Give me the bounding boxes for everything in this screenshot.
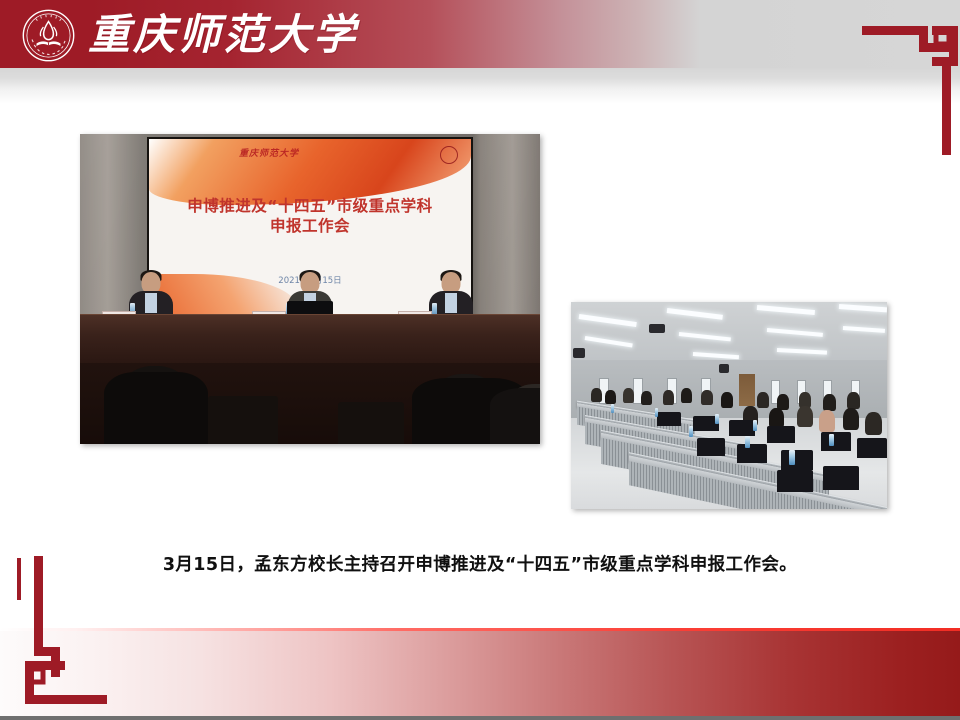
attendee bbox=[823, 394, 836, 411]
water-bottle bbox=[689, 426, 693, 437]
institution-name: 重庆师范大学 bbox=[88, 6, 328, 64]
attendee bbox=[591, 388, 602, 402]
water-bottle bbox=[611, 404, 614, 413]
conference-audience-photo bbox=[571, 302, 887, 509]
chinese-corner-ornament-bottom-left bbox=[14, 556, 114, 706]
attendee bbox=[701, 390, 713, 405]
chair-seat bbox=[657, 412, 681, 426]
chair-seat bbox=[777, 470, 813, 492]
attendee bbox=[757, 392, 769, 408]
chair-seat bbox=[781, 450, 813, 470]
screen-university-logo: 重庆师范大学 bbox=[239, 150, 368, 174]
university-seal-icon bbox=[22, 9, 75, 62]
attendee bbox=[819, 410, 835, 432]
attendee bbox=[605, 390, 616, 404]
foreground-attendee bbox=[106, 314, 206, 444]
chair-back bbox=[338, 402, 404, 444]
attendee bbox=[769, 408, 784, 428]
attendee bbox=[797, 406, 813, 427]
foreground-attendee bbox=[488, 348, 540, 444]
screen-title: 申博推进及“十四五”市级重点学科 申报工作会 bbox=[165, 196, 455, 238]
water-bottle bbox=[829, 434, 834, 446]
attendee bbox=[721, 392, 733, 408]
chair-back bbox=[208, 396, 278, 444]
chair-seat bbox=[729, 420, 755, 436]
water-bottle bbox=[745, 436, 750, 448]
chair-seat bbox=[857, 438, 887, 458]
slide-caption: 3月15日，孟东方校长主持召开申博推进及“十四五”市级重点学科申报工作会。 bbox=[0, 552, 960, 578]
attendee bbox=[843, 408, 859, 430]
wall-speaker bbox=[719, 364, 729, 373]
footer-gradient-band bbox=[0, 631, 960, 716]
wall-monitor bbox=[573, 348, 585, 358]
attendee bbox=[663, 390, 674, 405]
screen-title-line-1: 申博推进及“十四五”市级重点学科 bbox=[165, 196, 455, 217]
attendee bbox=[623, 388, 634, 403]
chair-seat bbox=[823, 466, 859, 490]
presentation-slide: 重庆师范大学 重庆师范 bbox=[0, 0, 960, 720]
water-bottle bbox=[789, 450, 795, 465]
screen-title-line-2: 申报工作会 bbox=[165, 216, 455, 237]
header-gray-band bbox=[0, 68, 960, 90]
chair-seat bbox=[697, 438, 725, 456]
chair-seat bbox=[767, 426, 795, 443]
attendee bbox=[641, 391, 652, 405]
ceiling-projector bbox=[649, 324, 665, 333]
room-door bbox=[739, 374, 755, 406]
chair-seat bbox=[821, 432, 851, 451]
water-bottle bbox=[655, 408, 658, 417]
chinese-corner-ornament-top-right bbox=[862, 12, 960, 157]
water-bottle bbox=[715, 414, 719, 424]
attendee bbox=[847, 392, 860, 409]
water-bottle bbox=[753, 420, 757, 431]
meeting-head-table-photo: 重庆师范大学 申博推进及“十四五”市级重点学科 申报工作会 2021年3月15日 bbox=[80, 134, 540, 444]
chair-seat bbox=[737, 444, 767, 463]
attendee bbox=[681, 388, 692, 403]
attendee bbox=[865, 412, 882, 435]
slide-bottom-edge bbox=[0, 716, 960, 720]
header-fade-band bbox=[0, 90, 960, 104]
